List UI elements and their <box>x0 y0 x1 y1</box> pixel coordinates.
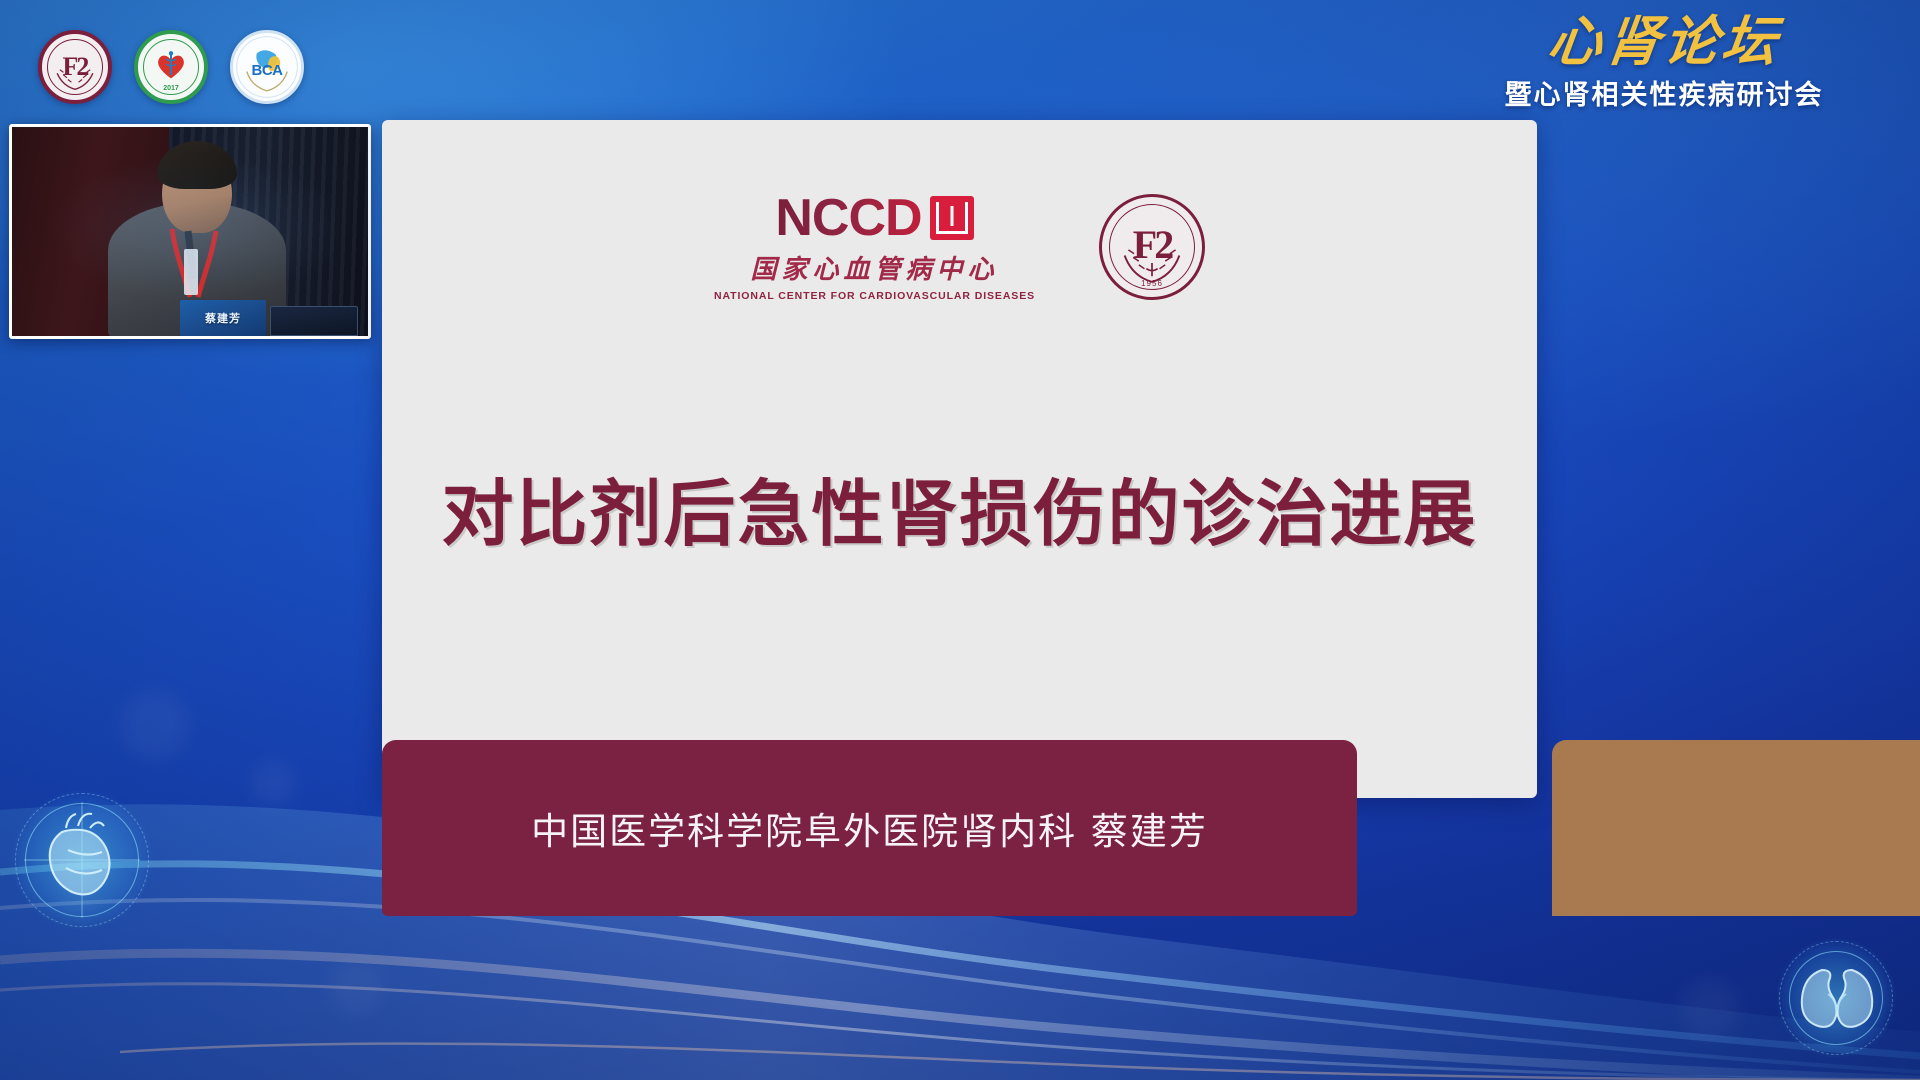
slide-footer-text: 中国医学科学院阜外医院肾内科 蔡建芳 <box>531 801 1208 855</box>
slide-title: 对比剂后急性肾损伤的诊治进展 <box>382 475 1537 554</box>
cardiovascular-health-badge: 2017 <box>134 30 208 104</box>
event-title-calligraphy: 心肾论坛 <box>1441 14 1888 71</box>
slide-accent-block <box>1552 740 1920 916</box>
nccd-wordmark: NCCD <box>775 192 921 244</box>
anatomical-heart-glyph <box>12 790 152 930</box>
nccd-english-name: NATIONAL CENTER FOR CARDIOVASCULAR DISEA… <box>714 290 1035 302</box>
heart-caduceus-icon <box>154 50 188 80</box>
speaker-camera-feed[interactable]: 蔡建芳 <box>9 124 371 339</box>
heart-icon <box>12 790 152 930</box>
bca-badge: BCA <box>230 30 304 104</box>
slide-logo-row: NCCD 国家心血管病中心 NATIONAL CENTER FOR CARDIO… <box>382 192 1537 302</box>
seal-year: 1956 <box>1102 279 1202 288</box>
event-subtitle: 暨心肾相关性疾病研讨会 <box>1444 73 1884 112</box>
fuwai-hospital-badge: F2 <box>38 30 112 104</box>
organizer-logos: F2 2017 BCA <box>38 30 304 104</box>
presentation-slide[interactable]: NCCD 国家心血管病中心 NATIONAL CENTER FOR CARDIO… <box>382 120 1537 798</box>
badge-year: 2017 <box>138 85 204 92</box>
fuwai-hospital-seal: F2 1956 <box>1099 194 1205 300</box>
kidney-glyph <box>1776 938 1896 1058</box>
nccd-logo: NCCD 国家心血管病中心 NATIONAL CENTER FOR CARDIO… <box>714 192 1035 302</box>
event-logo: 心肾论坛 暨心肾相关性疾病研讨会 <box>1444 14 1884 112</box>
slide-footer-bar: 中国医学科学院阜外医院肾内科 蔡建芳 <box>382 740 1357 916</box>
video-light-glow <box>12 127 368 336</box>
kidney-icon <box>1776 938 1896 1058</box>
seal-monogram: F2 <box>1133 225 1171 265</box>
badge-monogram: F2 <box>63 54 88 80</box>
nccd-chinese-name: 国家心血管病中心 <box>750 249 998 286</box>
nccd-symbol-icon <box>930 196 974 240</box>
badge-monogram: BCA <box>252 62 283 79</box>
